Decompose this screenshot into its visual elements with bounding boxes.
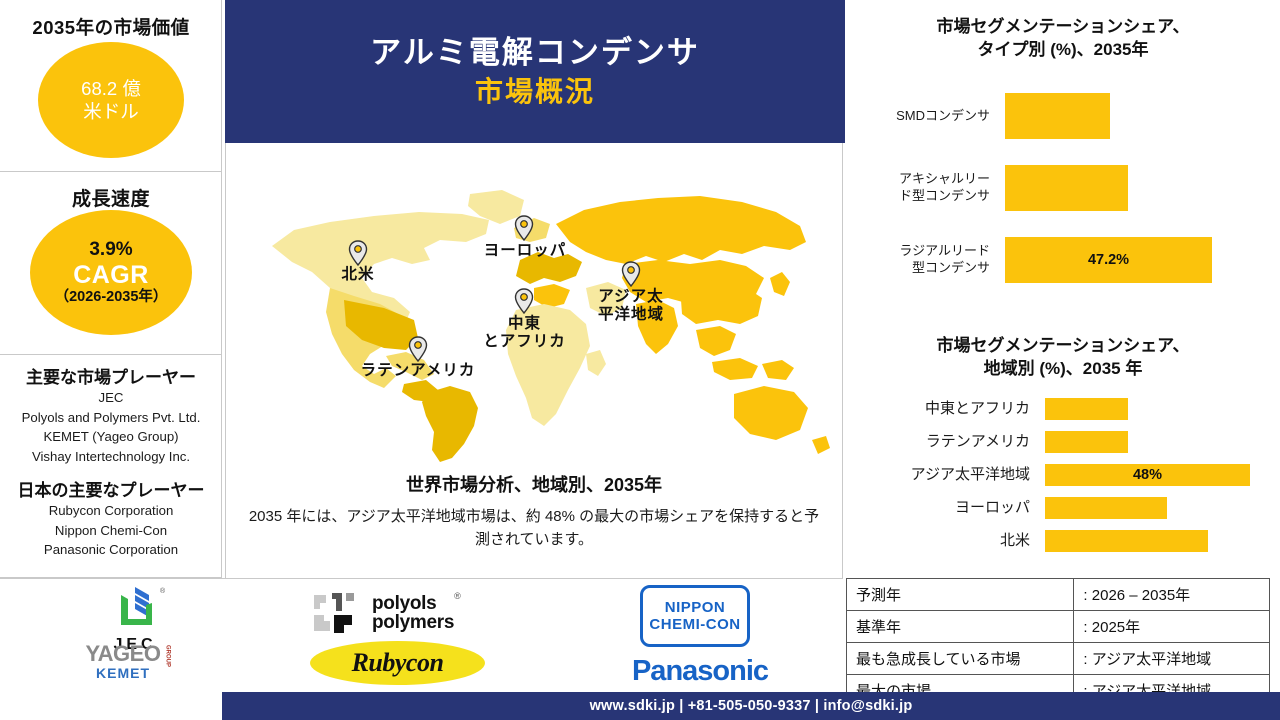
bar-row: ラテンアメリカ — [846, 425, 1280, 458]
infographic-root: 2035年の市場価値 68.2 億 米ドル 成長速度 3.9% CAGR （20… — [0, 0, 1280, 720]
map-label-north-america: 北米 — [332, 266, 384, 284]
ncc-line1: NIPPON — [665, 599, 726, 616]
rubycon-oval: Rubycon — [310, 641, 485, 685]
map-label-asia-pacific: アジア太 平洋地域 — [584, 288, 678, 324]
cagr-value: 3.9% — [89, 240, 132, 261]
yageo-wordmark: YAGEO — [86, 641, 161, 666]
bar-label: 北米 — [846, 531, 1039, 550]
map-caption: 世界市場分析、地域別、2035年 — [226, 471, 842, 497]
map-panel: 北米 ヨーロッパ アジア太 平洋地域 — [225, 143, 843, 578]
map-label-europe: ヨーロッパ — [471, 242, 579, 260]
market-value-bubble: 68.2 億 米ドル — [38, 42, 184, 158]
table-row: 最も急成長している市場 : アジア太平洋地域 — [847, 643, 1270, 675]
map-description: 2035 年には、アジア太平洋地域市場は、約 48% の最大の市場シェアを保持す… — [242, 505, 826, 552]
fact-key: 基準年 — [847, 611, 1074, 643]
report-subtitle: 市場概況 — [475, 75, 595, 109]
map-pin-europe[interactable] — [514, 215, 534, 241]
cagr-period: （2026-2035年） — [55, 289, 168, 306]
left-sidebar: 2035年の市場価値 68.2 億 米ドル 成長速度 3.9% CAGR （20… — [0, 0, 222, 578]
fact-value: : アジア太平洋地域 — [1074, 643, 1270, 675]
bar-row: ラジアルリード 型コンデンサ 47.2% — [846, 224, 1280, 296]
kemet-wordmark: KEMET — [58, 665, 188, 681]
polyols-line2: polymers — [372, 613, 454, 632]
bar-label: ヨーロッパ — [846, 498, 1039, 517]
map-pin-middle-east-africa[interactable] — [514, 288, 534, 314]
bar-radial[interactable]: 47.2% — [1005, 237, 1212, 283]
bar-value: 47.2% — [1088, 252, 1129, 268]
market-value-card: 2035年の市場価値 68.2 億 米ドル — [0, 0, 222, 172]
market-value-amount: 68.2 億 — [81, 77, 141, 100]
chart-bars-region: 中東とアフリカ ラテンアメリカ アジア太平洋地域 48% — [846, 392, 1280, 557]
map-pin-north-america[interactable] — [348, 240, 368, 266]
polyols-mark-icon — [310, 589, 368, 637]
chart-bars-type: SMDコンデンサ アキシャルリー ド型コンデンサ — [846, 80, 1280, 296]
market-value-currency: 米ドル — [83, 100, 139, 123]
bar-label: ラジアルリード 型コンデンサ — [846, 243, 998, 276]
list-item: JEC — [0, 388, 222, 408]
table-row: 基準年 : 2025年 — [847, 611, 1270, 643]
fact-value: : 2026 – 2035年 — [1074, 579, 1270, 611]
map-label-latin-america: ラテンアメリカ — [339, 362, 497, 380]
bar-north-america[interactable] — [1045, 530, 1208, 552]
market-value-heading: 2035年の市場価値 — [0, 0, 222, 40]
map-pin-latin-america[interactable] — [408, 336, 428, 362]
bar-label: SMDコンデンサ — [846, 108, 998, 125]
logo-strip: ® JEC YAGEO GROUP KEMET — [0, 578, 843, 692]
list-item: Panasonic Corporation — [0, 540, 222, 560]
right-sidebar: 市場セグメンテーションシェア、 タイプ別 (%)、2035年 SMDコンデンサ … — [846, 0, 1280, 578]
ncc-line2: CHEMI-CON — [649, 616, 740, 633]
logo-nippon-chemicon: NIPPON CHEMI-CON — [640, 585, 750, 647]
title-banner: アルミ電解コンデンサ 市場概況 — [225, 0, 845, 143]
jec-mark-icon: ® — [92, 583, 178, 631]
chart-segmentation-by-region: 市場セグメンテーションシェア、 地域別 (%)、2035 年 中東とアフリカ ラ… — [846, 330, 1280, 578]
bar-row: ヨーロッパ — [846, 491, 1280, 524]
chart-segmentation-by-type: 市場セグメンテーションシェア、 タイプ別 (%)、2035年 SMDコンデンサ … — [846, 0, 1280, 330]
footer-contact: www.sdki.jp | +81-505-050-9337 | info@sd… — [590, 698, 913, 714]
bar-label: アキシャルリー ド型コンデンサ — [846, 171, 998, 204]
logo-rubycon: Rubycon — [310, 641, 485, 685]
fact-key: 予測年 — [847, 579, 1074, 611]
growth-rate-heading: 成長速度 — [0, 172, 222, 211]
bar-latin-america[interactable] — [1045, 431, 1128, 453]
chart-title-type: 市場セグメンテーションシェア、 タイプ別 (%)、2035年 — [846, 0, 1280, 62]
footer-bar: www.sdki.jp | +81-505-050-9337 | info@sd… — [222, 692, 1280, 720]
logo-polyols-polymers: polyols polymers ® — [310, 589, 540, 637]
facts-table: 予測年 : 2026 – 2035年 基準年 : 2025年 最も急成長している… — [846, 578, 1270, 707]
japan-players-heading: 日本の主要なプレーヤー — [0, 466, 222, 501]
polyols-line1: polyols — [372, 594, 454, 613]
table-row: 予測年 : 2026 – 2035年 — [847, 579, 1270, 611]
key-players-heading: 主要な市場プレーヤー — [0, 355, 222, 388]
map-label-middle-east-africa: 中東 とアフリカ — [466, 315, 583, 351]
growth-rate-bubble: 3.9% CAGR （2026-2035年） — [30, 210, 192, 335]
growth-rate-card: 成長速度 3.9% CAGR （2026-2035年） — [0, 172, 222, 355]
cagr-label: CAGR — [73, 261, 149, 289]
report-title: アルミ電解コンデンサ — [370, 34, 700, 71]
bar-axial[interactable] — [1005, 165, 1128, 211]
bar-label: 中東とアフリカ — [846, 399, 1039, 418]
svg-text:®: ® — [160, 587, 166, 595]
nippon-chemicon-badge: NIPPON CHEMI-CON — [640, 585, 750, 647]
key-players-card: 主要な市場プレーヤー JEC Polyols and Polymers Pvt.… — [0, 355, 222, 578]
panasonic-wordmark: Panasonic — [632, 655, 768, 687]
fact-value: : 2025年 — [1074, 611, 1270, 643]
bar-row: SMDコンデンサ — [846, 80, 1280, 152]
list-item: Nippon Chemi-Con — [0, 521, 222, 541]
bar-row: アジア太平洋地域 48% — [846, 458, 1280, 491]
logo-yageo-kemet: YAGEO GROUP KEMET — [58, 641, 188, 681]
rubycon-wordmark: Rubycon — [352, 648, 444, 678]
bar-label: ラテンアメリカ — [846, 432, 1039, 451]
list-item: Rubycon Corporation — [0, 501, 222, 521]
bar-label: アジア太平洋地域 — [846, 465, 1039, 484]
bar-europe[interactable] — [1045, 497, 1167, 519]
registered-icon: ® — [454, 591, 461, 601]
map-pin-asia-pacific[interactable] — [621, 261, 641, 287]
bar-smd[interactable] — [1005, 93, 1110, 139]
bar-asia-pacific[interactable]: 48% — [1045, 464, 1250, 486]
list-item: KEMET (Yageo Group) — [0, 427, 222, 447]
bar-row: アキシャルリー ド型コンデンサ — [846, 152, 1280, 224]
yageo-group-tag: GROUP — [164, 645, 170, 667]
world-map: 北米 ヨーロッパ アジア太 平洋地域 — [226, 168, 842, 468]
logo-panasonic: Panasonic — [620, 655, 780, 688]
bar-row: 北米 — [846, 524, 1280, 557]
list-item: Polyols and Polymers Pvt. Ltd. — [0, 408, 222, 428]
bar-row: 中東とアフリカ — [846, 392, 1280, 425]
list-item: Vishay Intertechnology Inc. — [0, 447, 222, 467]
bar-middle-east-africa[interactable] — [1045, 398, 1128, 420]
chart-title-region: 市場セグメンテーションシェア、 地域別 (%)、2035 年 — [846, 330, 1280, 381]
bar-value: 48% — [1133, 467, 1162, 483]
fact-key: 最も急成長している市場 — [847, 643, 1074, 675]
